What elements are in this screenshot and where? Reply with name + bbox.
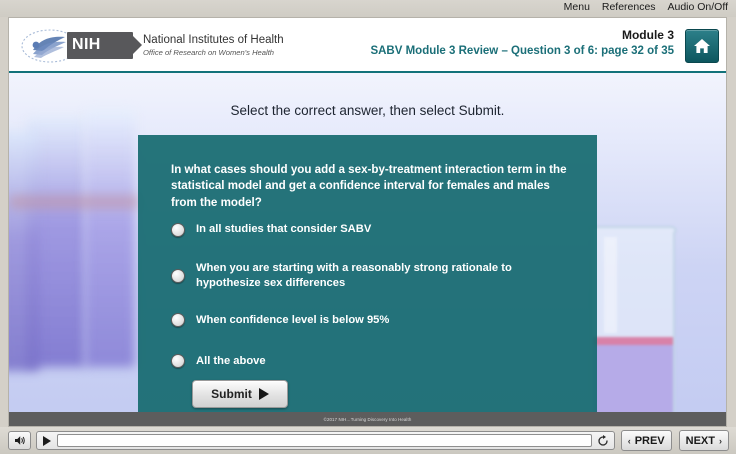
- player-controls: ‹ PREV NEXT ›: [0, 427, 736, 454]
- radio-button-4[interactable]: [171, 354, 185, 368]
- answer-option-4-label: All the above: [196, 354, 266, 369]
- answer-option-4[interactable]: All the above: [171, 351, 581, 371]
- radio-button-2[interactable]: [171, 269, 185, 283]
- next-button[interactable]: NEXT ›: [679, 430, 729, 451]
- question-text: In what cases should you add a sex-by-tr…: [171, 162, 571, 211]
- menu-item-audio-toggle[interactable]: Audio On/Off: [667, 1, 728, 13]
- copyright-bar: ©2017 NIH…Turning Discovery Into Health: [9, 412, 726, 426]
- nih-logo-text: NIH: [72, 36, 101, 54]
- submit-button-label: Submit: [211, 387, 252, 401]
- instruction-text: Select the correct answer, then select S…: [9, 103, 726, 118]
- submit-button[interactable]: Submit: [192, 380, 288, 408]
- slide-frame: NIH National Institutes of Health Office…: [8, 17, 727, 427]
- answer-option-3[interactable]: When confidence level is below 95%: [171, 310, 581, 330]
- nih-logo: NIH: [67, 32, 133, 59]
- prev-button[interactable]: ‹ PREV: [621, 430, 672, 451]
- prev-button-label: PREV: [635, 435, 665, 447]
- slide-header: NIH National Institutes of Health Office…: [9, 18, 726, 72]
- speaker-icon: [14, 435, 26, 446]
- slide-stage: Select the correct answer, then select S…: [9, 73, 726, 426]
- home-button[interactable]: [685, 29, 719, 63]
- organization-office: Office of Research on Women's Health: [143, 48, 274, 57]
- progress-bar[interactable]: [57, 434, 592, 447]
- answer-option-1-label: In all studies that consider SABV: [196, 222, 371, 237]
- replay-icon: [597, 435, 609, 447]
- menu-item-menu[interactable]: Menu: [564, 1, 590, 13]
- menu-item-references[interactable]: References: [602, 1, 656, 13]
- radio-button-1[interactable]: [171, 223, 185, 237]
- answer-option-1[interactable]: In all studies that consider SABV: [171, 220, 581, 240]
- module-subtitle: SABV Module 3 Review – Question 3 of 6: …: [370, 45, 674, 57]
- volume-button[interactable]: [8, 431, 31, 450]
- menubar-links: Menu References Audio On/Off: [555, 1, 728, 13]
- home-icon: [693, 38, 711, 54]
- replay-button[interactable]: [592, 435, 614, 447]
- question-panel: In what cases should you add a sex-by-tr…: [138, 135, 597, 422]
- organization-name: National Institutes of Health: [143, 34, 284, 46]
- play-triangle-icon: [259, 388, 269, 400]
- chevron-left-icon: ‹: [628, 436, 631, 446]
- top-menubar: Menu References Audio On/Off: [0, 0, 736, 17]
- chevron-right-icon: ›: [719, 436, 722, 446]
- bg-test-tube-2: [85, 109, 135, 367]
- next-button-label: NEXT: [686, 435, 715, 447]
- bg-tube-rack-bar: [9, 195, 139, 209]
- answer-option-3-label: When confidence level is below 95%: [196, 313, 389, 328]
- module-title: Module 3: [622, 28, 674, 42]
- bg-beaker: [584, 223, 680, 426]
- playback-track-group: [36, 431, 615, 450]
- play-button[interactable]: [43, 436, 51, 446]
- radio-button-3[interactable]: [171, 313, 185, 327]
- answer-options: In all studies that consider SABV When y…: [171, 220, 581, 371]
- copyright-text: ©2017 NIH…Turning Discovery Into Health: [324, 417, 412, 422]
- elearning-slide: Menu References Audio On/Off NIH Nationa…: [0, 0, 736, 454]
- bg-test-tube-3: [9, 131, 39, 371]
- answer-option-2[interactable]: When you are starting with a reasonably …: [171, 261, 581, 291]
- answer-option-2-label: When you are starting with a reasonably …: [196, 261, 532, 291]
